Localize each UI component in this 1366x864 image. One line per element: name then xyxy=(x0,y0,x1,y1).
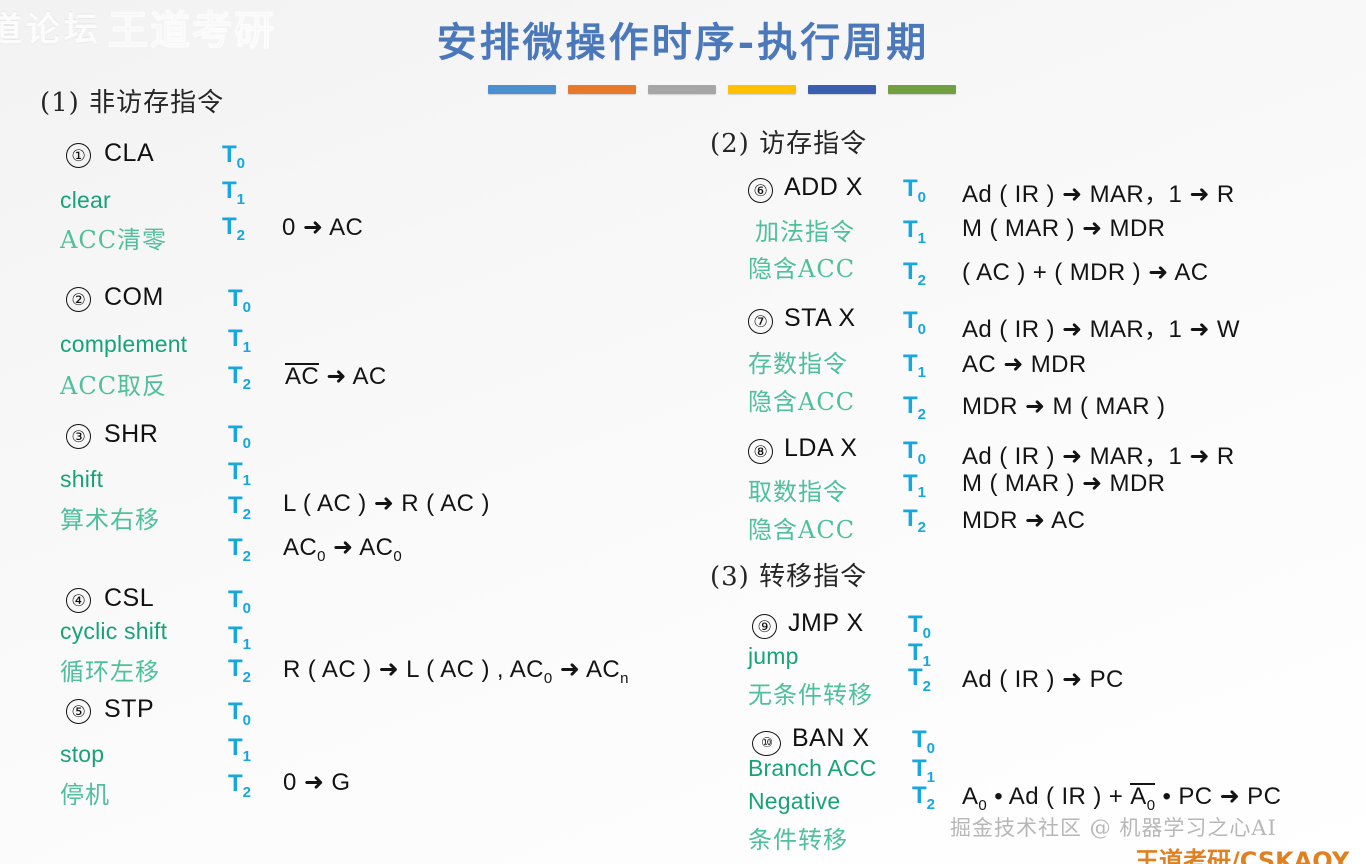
timing-label-t2-a: T2 xyxy=(228,492,251,523)
timing-label-t2: T2 xyxy=(903,392,926,423)
timing-label-t1: T1 xyxy=(903,216,926,247)
instruction-chinese: 停机 xyxy=(60,775,110,810)
timing-label-t2: T2 xyxy=(903,505,926,536)
microop-expression-t0: Ad ( IR ) ➜ MAR，1 ➜ R xyxy=(962,436,1235,471)
expr-part: ➜ AC xyxy=(326,534,393,561)
page-title: 安排微操作时序-执行周期 xyxy=(0,10,1366,68)
instruction-chinese: 算术右移 xyxy=(60,500,160,535)
instruction-mnemonic: CSL xyxy=(104,584,154,613)
timing-label-t0: T0 xyxy=(228,285,251,316)
expr-part: A xyxy=(1130,783,1146,810)
timing-label-t2: T2 xyxy=(228,655,251,686)
instruction-english: shift xyxy=(60,466,103,493)
accent-bar-4 xyxy=(728,85,796,94)
timing-label-t1: T1 xyxy=(228,734,251,765)
microop-expression: L ( AC ) ➜ R ( AC ) xyxy=(283,489,490,518)
timing-label-t0: T0 xyxy=(903,175,926,206)
instruction-english: jump xyxy=(748,643,799,670)
microop-expression-t1: M ( MAR ) ➜ MDR xyxy=(962,214,1165,243)
expression-rest: ➜ AC xyxy=(326,363,386,390)
microop-expression-t2: ( AC ) + ( MDR ) ➜ AC xyxy=(962,258,1209,287)
timing-label-t1: T1 xyxy=(228,458,251,489)
instruction-index: ② xyxy=(66,282,91,312)
instruction-index: ④ xyxy=(66,583,91,613)
instruction-english: complement xyxy=(60,331,187,358)
instruction-english: clear xyxy=(60,187,111,214)
expr-part: • Ad ( IR ) + xyxy=(987,783,1130,810)
instruction-mnemonic: JMP X xyxy=(788,609,864,638)
microop-expression-2: AC0 ➜ AC0 xyxy=(283,533,402,565)
timing-label-t0: T0 xyxy=(228,698,251,729)
accent-bar-1 xyxy=(488,85,556,94)
timing-label-t1: T1 xyxy=(228,325,251,356)
section-heading-1: (1) 非访存指令 xyxy=(40,82,224,119)
timing-label-t1: T1 xyxy=(228,622,251,653)
timing-label-t0: T0 xyxy=(903,307,926,338)
microop-expression-t2: MDR ➜ M ( MAR ) xyxy=(962,392,1165,421)
instruction-index: ① xyxy=(66,138,91,168)
microop-expression: R ( AC ) ➜ L ( AC ) , AC0 ➜ ACn xyxy=(283,655,629,687)
expr-part: R ( AC ) ➜ L ( AC ) , AC xyxy=(283,656,544,683)
instruction-english: cyclic shift xyxy=(60,618,167,645)
microop-expression: A0 • Ad ( IR ) + A0 • PC ➜ PC xyxy=(962,782,1281,814)
instruction-mnemonic: COM xyxy=(104,283,164,312)
instruction-mnemonic: STA X xyxy=(784,304,856,333)
timing-label-t2: T2 xyxy=(903,258,926,289)
instruction-chinese-2: 隐含ACC xyxy=(748,382,855,417)
microop-expression-t1: AC ➜ MDR xyxy=(962,350,1087,379)
overline-operand: A0 xyxy=(1130,783,1155,813)
timing-label-t2: T2 xyxy=(912,782,935,813)
microop-expression-t0: Ad ( IR ) ➜ MAR，1 ➜ W xyxy=(962,309,1240,344)
expr-sub: 0 xyxy=(393,548,402,565)
instruction-chinese-1: 取数指令 xyxy=(748,472,848,507)
instruction-index: ③ xyxy=(66,419,91,449)
microop-expression-t0: Ad ( IR ) ➜ MAR，1 ➜ R xyxy=(962,174,1235,209)
timing-label-t2: T2 xyxy=(222,213,245,244)
overline-operand: AC xyxy=(285,363,319,389)
instruction-index: ⑦ xyxy=(748,304,773,334)
instruction-chinese-2: 隐含ACC xyxy=(748,249,855,284)
watermark-brand: 王道考研/CSKAOY xyxy=(1135,841,1349,864)
instruction-index: ⑤ xyxy=(66,694,91,724)
instruction-english-1: Branch ACC xyxy=(748,755,877,782)
timing-label-t1: T1 xyxy=(222,177,245,208)
watermark-bottom: 掘金技术社区 @ 机器学习之心AI xyxy=(950,812,1277,842)
timing-label-t0: T0 xyxy=(912,726,935,757)
expr-sub: 0 xyxy=(317,548,326,565)
instruction-chinese: 无条件转移 xyxy=(748,675,873,710)
accent-bar-6 xyxy=(888,85,956,94)
accent-bar-3 xyxy=(648,85,716,94)
instruction-chinese: 循环左移 xyxy=(60,652,160,687)
instruction-chinese: 条件转移 xyxy=(748,820,848,855)
instruction-mnemonic: BAN X xyxy=(792,724,870,753)
instruction-index: ⑧ xyxy=(748,434,773,464)
section-heading-2: (2) 访存指令 xyxy=(710,123,867,160)
expr-sub: n xyxy=(620,670,629,687)
instruction-mnemonic: LDA X xyxy=(784,434,857,463)
microop-expression: 0 ➜ G xyxy=(283,768,350,797)
timing-label-t2-b: T2 xyxy=(228,534,251,565)
instruction-chinese-1: 加法指令 xyxy=(755,212,855,247)
timing-label-t1: T1 xyxy=(903,470,926,501)
accent-bar-group xyxy=(488,85,956,94)
expr-part: A xyxy=(962,783,978,810)
timing-label-t1: T1 xyxy=(903,350,926,381)
timing-label-t2: T2 xyxy=(228,770,251,801)
accent-bar-5 xyxy=(808,85,876,94)
instruction-english-2: Negative xyxy=(748,788,840,815)
expr-part: AC xyxy=(283,534,317,561)
instruction-mnemonic: CLA xyxy=(104,139,154,168)
instruction-mnemonic: SHR xyxy=(104,420,158,449)
timing-label-t0: T0 xyxy=(228,586,251,617)
timing-label-t0: T0 xyxy=(903,437,926,468)
section-heading-3: (3) 转移指令 xyxy=(710,556,867,593)
timing-label-t0: T0 xyxy=(222,141,245,172)
expr-part: ➜ AC xyxy=(553,656,620,683)
instruction-chinese: ACC取反 xyxy=(60,366,167,401)
accent-bar-2 xyxy=(568,85,636,94)
instruction-mnemonic: STP xyxy=(104,695,154,724)
microop-expression: 0 ➜ AC xyxy=(282,213,363,242)
instruction-index: ⑩ xyxy=(752,724,781,756)
timing-label-t2: T2 xyxy=(228,362,251,393)
timing-label-t2: T2 xyxy=(908,664,931,695)
instruction-chinese-2: 隐含ACC xyxy=(748,510,855,545)
timing-label-t0: T0 xyxy=(908,611,931,642)
instruction-index: ⑥ xyxy=(748,173,773,203)
microop-expression-t1: M ( MAR ) ➜ MDR xyxy=(962,469,1165,498)
instruction-chinese: ACC清零 xyxy=(60,220,167,255)
microop-expression-t2: MDR ➜ AC xyxy=(962,506,1085,535)
expr-part: • PC ➜ PC xyxy=(1155,783,1281,810)
expr-sub: 0 xyxy=(544,670,553,687)
microop-expression: Ad ( IR ) ➜ PC xyxy=(962,665,1124,694)
instruction-chinese-1: 存数指令 xyxy=(748,344,848,379)
microop-expression: AC ➜ AC xyxy=(285,362,387,391)
instruction-english: stop xyxy=(60,741,104,768)
instruction-index: ⑨ xyxy=(752,609,777,639)
timing-label-t0: T0 xyxy=(228,421,251,452)
instruction-mnemonic: ADD X xyxy=(784,173,863,202)
